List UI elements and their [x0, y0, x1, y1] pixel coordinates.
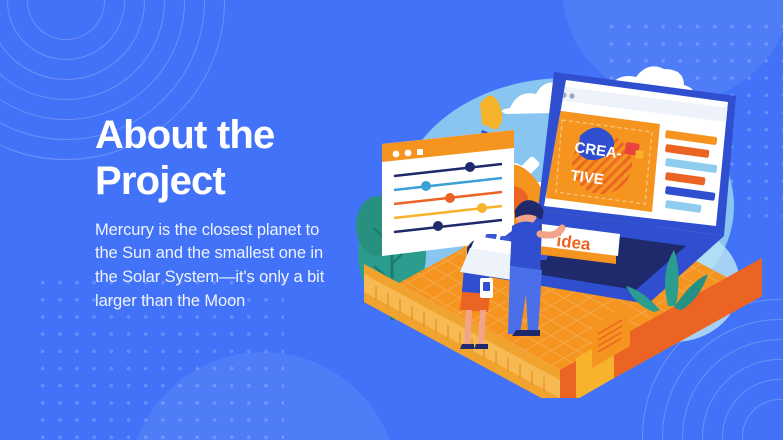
page-title: About the Project	[95, 112, 345, 205]
body-paragraph: Mercury is the closest planet to the Sun…	[95, 219, 345, 313]
text-column: About the Project Mercury is the closest…	[95, 112, 345, 313]
slide-about-the-project: About the Project Mercury is the closest…	[0, 0, 783, 440]
illustration-creative-workspace: CREA- TIVE	[330, 58, 783, 398]
